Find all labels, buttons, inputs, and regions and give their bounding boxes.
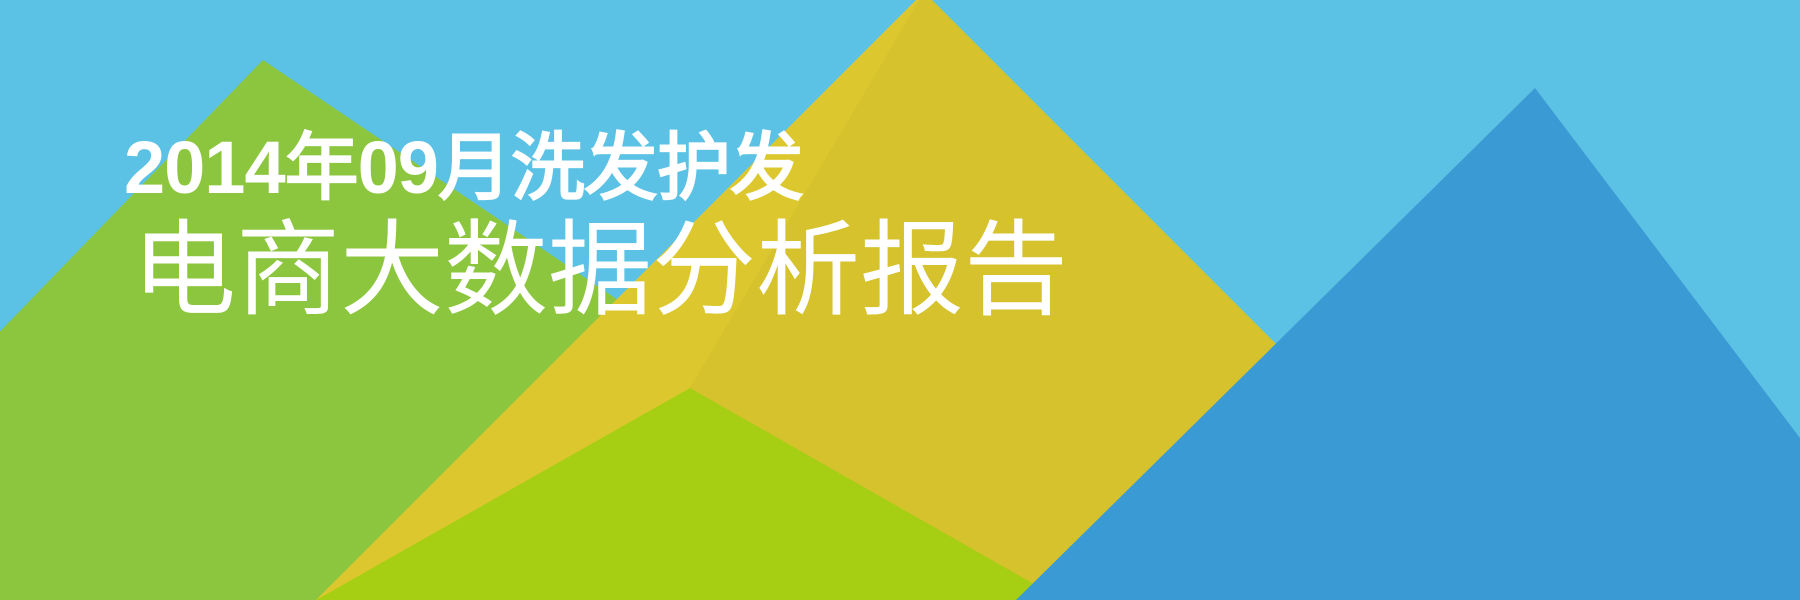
mountain-backdrop-graphic (0, 0, 1800, 600)
report-cover-banner: 2014年09月洗发护发 电商大数据分析报告 (0, 0, 1800, 600)
